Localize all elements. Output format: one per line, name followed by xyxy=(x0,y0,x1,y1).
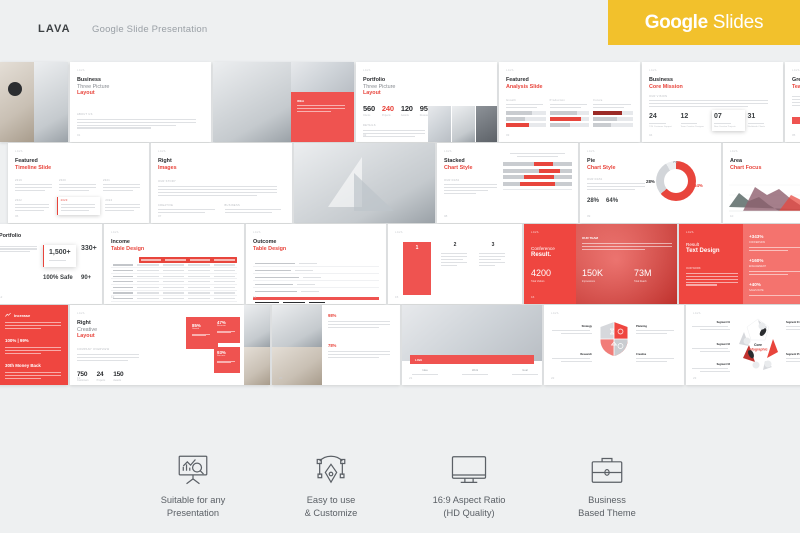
stat-value: 100% Safe xyxy=(43,275,73,281)
brand-subtitle: Google Slide Presentation xyxy=(92,24,207,35)
result-value: +40% xyxy=(749,282,800,287)
table-row xyxy=(253,281,379,288)
slide-tag: LAVA xyxy=(444,150,500,153)
slide-cover-photo-left[interactable] xyxy=(0,62,68,142)
info-label: Segment 01 xyxy=(692,321,730,324)
info-item: Strategy xyxy=(552,325,592,336)
feature-item: Idea xyxy=(412,369,438,375)
slide-tag: LAVA xyxy=(587,150,649,153)
stat-value: 28% xyxy=(587,198,599,204)
stat-caption: New Creative Projects xyxy=(714,126,743,128)
feature-easy-to-use: Easy to use & Customize xyxy=(279,449,383,519)
slide-title: Featured Timeline Slide xyxy=(15,158,142,171)
item-value: 98% xyxy=(328,313,394,318)
plan-label: 3 xyxy=(479,242,507,248)
slide-number: 04 xyxy=(649,133,652,137)
item-label: Increase xyxy=(14,313,30,318)
metric-card: 93% Success xyxy=(214,347,240,373)
slide-tag: LAVA xyxy=(649,69,776,72)
slide-title-line1: Featured xyxy=(506,77,633,84)
trend-up-icon xyxy=(5,312,11,318)
table-total-row xyxy=(253,300,379,304)
badge-word-slides: Slides xyxy=(713,12,764,34)
stat-value: 1,500+ xyxy=(49,249,71,256)
stat-item: 150 Awards xyxy=(113,371,123,383)
slide-title-line2: Chart Style xyxy=(587,165,649,172)
slide-number: 03 xyxy=(506,133,509,137)
slide-title: Income Table Design xyxy=(111,239,237,252)
table-row xyxy=(111,302,237,304)
stat-item: 73M Total Reach xyxy=(634,268,652,283)
slide-title: Great Teamwork xyxy=(792,77,800,90)
slide-title-line2: Chart Style xyxy=(444,165,500,172)
feature-label: Idea xyxy=(412,369,438,372)
metric-caption: Revenue xyxy=(217,325,240,327)
slide-title-line1: Featured xyxy=(15,158,142,165)
slide-shield-infographic[interactable]: LAVA Strate xyxy=(544,305,684,385)
feature-line2: & Customize xyxy=(279,507,383,519)
slide-tag: LAVA xyxy=(395,231,515,234)
result-value: +160% xyxy=(749,258,800,263)
feature-line1: Business xyxy=(555,494,659,506)
slide-portfolio-three-picture-layout[interactable]: LAVA Portfolio Three Picture Layout 560 … xyxy=(356,62,497,142)
slide-number: 07 xyxy=(158,214,161,218)
badge-word-google: Google xyxy=(645,12,708,34)
table-header-cell xyxy=(141,259,162,260)
feature-item: Goal xyxy=(512,369,538,375)
slide-number: 09 xyxy=(587,214,590,218)
svg-text:Core: Core xyxy=(754,343,762,347)
slide-title-line2: Core Mission xyxy=(649,84,776,91)
stat-caption: Team Creative Designer xyxy=(681,126,710,128)
stat-item: 31 Worldwide Clients xyxy=(748,113,777,128)
slide-title-line1: Right xyxy=(158,158,285,165)
info-item: Planning xyxy=(636,325,676,336)
slide-title-line2: Analysis Slide xyxy=(506,84,633,91)
info-item: Segment 02 xyxy=(692,343,730,354)
slide-featured-analysis[interactable]: LAVA Featured Analysis Slide Growth xyxy=(499,62,640,142)
slide-number: 16 xyxy=(531,295,534,299)
monitor-icon xyxy=(417,449,521,491)
slide-tag: LAVA xyxy=(111,231,237,234)
slide-row-1: LAVA Business Three Picture Layout ABOUT… xyxy=(0,62,800,142)
slide-title: Portfolio Three Picture Layout xyxy=(363,77,490,97)
stat-value: 150 xyxy=(113,371,123,378)
stat-item: 4200 Total Visitors xyxy=(531,268,551,283)
slide-number: 15 xyxy=(395,295,398,299)
stat-value: 330+ xyxy=(81,245,97,252)
pricing-plan-card[interactable]: 1 xyxy=(403,242,431,295)
feature-line1: Suitable for any xyxy=(141,494,245,506)
slide-number: 13 xyxy=(111,295,114,299)
slide-team-photo[interactable]: LAVA Idea Work Goal 21 xyxy=(402,305,542,385)
stat-item: 240 Projects xyxy=(382,104,394,118)
slide-business-core-mission[interactable]: LAVA Business Core Mission OUR VISION 24 xyxy=(642,62,783,142)
slide-area-chart-focus[interactable]: LAVA Area Chart Focus xyxy=(723,143,800,223)
stat-caption: Awards xyxy=(113,379,123,382)
briefcase-icon xyxy=(555,449,659,491)
slide-title: Area Chart Focus xyxy=(730,158,800,171)
table-row xyxy=(253,260,379,267)
svg-text:Infographic: Infographic xyxy=(748,348,767,352)
stat-value: 07 xyxy=(714,113,743,120)
slide-tag: LAVA xyxy=(77,69,204,72)
info-label: Research xyxy=(552,353,592,356)
table-row xyxy=(253,274,379,281)
slide-number: 02 xyxy=(363,133,366,137)
slide-tag: LAVA xyxy=(686,231,738,234)
data-table xyxy=(253,260,379,304)
slide-tag: LAVA xyxy=(506,69,633,72)
plan-label: 1 xyxy=(416,245,419,251)
slide-number: 08 xyxy=(444,214,447,218)
stat-value: 73M xyxy=(634,268,652,278)
metric-caption: Growth xyxy=(192,328,215,330)
slide-title-line1: Pie xyxy=(587,158,649,165)
info-item: Research xyxy=(552,353,592,364)
table-row xyxy=(253,267,379,274)
slide-number: 10 xyxy=(730,214,733,218)
slide-tag: LAVA xyxy=(253,231,379,234)
slide-title-line1: Portfolio xyxy=(0,233,95,240)
slide-number: 21 xyxy=(409,376,412,380)
slide-title-line1: Income xyxy=(111,239,237,246)
slide-title: Business Three Picture Layout xyxy=(77,77,204,97)
banner-label: LAVA xyxy=(415,358,422,362)
slide-row-4: Increase 100% | 99% 30th Money Back LAVA… xyxy=(0,305,800,385)
area-chart xyxy=(729,179,800,213)
feature-line1: 16:9 Aspect Ratio xyxy=(417,494,521,506)
slide-title: Stacked Chart Style xyxy=(444,158,500,171)
slide-title: Outcome Table Design xyxy=(253,239,379,252)
stat-value: 31 xyxy=(748,113,777,120)
stat-item: 90+ Creative Ideas xyxy=(81,275,91,283)
slide-title-line2: Images xyxy=(158,165,285,172)
slide-keyboard-photo[interactable]: IDEA xyxy=(213,62,354,142)
stat-item-highlighted: 07 New Creative Projects xyxy=(712,110,745,131)
feature-line2: Presentation xyxy=(141,507,245,519)
info-label: Segment 03 xyxy=(692,363,730,366)
stat-value: 560 xyxy=(363,104,375,113)
slide-tag: LAVA xyxy=(531,231,573,234)
slide-title: Result Text Design xyxy=(686,242,738,255)
stat-value: 150K xyxy=(582,268,603,278)
feature-line2: Based Theme xyxy=(555,507,659,519)
feature-aspect-ratio: 16:9 Aspect Ratio (HD Quality) xyxy=(417,449,521,519)
slide-tag: LAVA xyxy=(551,312,677,315)
slide-title-line1: Great xyxy=(792,77,800,84)
stat-value: 64% xyxy=(606,198,618,204)
slide-right-creative-layout[interactable]: LAVA Right Creative Layout COMPANY OVERV… xyxy=(70,305,270,385)
slide-title-line3: Layout xyxy=(77,333,143,340)
slide-row-3: Portfolio 1,500+ Business Clients 330+ P… xyxy=(0,224,800,304)
slide-row-2: LAVA Featured Timeline Slide 2019 2020 2… xyxy=(0,143,800,223)
donut-chart: 64% 28% 7% xyxy=(656,161,696,201)
slide-conference-result[interactable]: LAVA Conference Result. OUR TEAM 4200 To… xyxy=(524,224,677,304)
info-label: Segment 05 xyxy=(786,353,800,356)
info-item: Segment 03 xyxy=(692,363,730,374)
slide-number: 05 xyxy=(792,133,795,137)
feature-list: Suitable for any Presentation Easy to u xyxy=(0,449,800,519)
slide-pricing-plan[interactable]: LAVA 1 2 3 xyxy=(388,224,522,304)
slide-title: Conference Result. xyxy=(531,246,573,259)
table-header-cell xyxy=(214,259,235,260)
feature-item: Work xyxy=(462,369,488,375)
presentation-preview-page: LAVA Google Slide Presentation Google Sl… xyxy=(0,0,800,533)
slide-title-line1: Outcome xyxy=(253,239,379,246)
decor-circle-icon xyxy=(8,82,22,96)
stat-value: 12 xyxy=(681,113,710,120)
slide-great-teamwork[interactable]: LAVA Great Teamwork 05 xyxy=(785,62,800,142)
slide-result-text-design[interactable]: LAVA Result Text Design OUR WORK +343% C… xyxy=(679,224,800,304)
slide-number: 01 xyxy=(77,133,80,137)
stat-item: 24 Projects xyxy=(97,371,106,383)
stat-value: 120 xyxy=(401,104,413,113)
slide-title: Right Images xyxy=(158,158,285,171)
presentation-chart-icon xyxy=(141,449,245,491)
stat-value: 240 xyxy=(382,104,394,113)
stat-caption: Worldwide Clients xyxy=(748,126,777,128)
stat-item: 560 Clients xyxy=(363,104,375,118)
donut-label-primary: 64% xyxy=(694,183,703,188)
column-label: Production xyxy=(550,99,590,102)
table-header-row xyxy=(139,257,237,263)
slide-title-line2: Three Picture xyxy=(77,84,204,91)
stat-value: 90+ xyxy=(81,275,91,281)
stat-item: 24 7/24 Customer Support xyxy=(649,113,678,128)
data-table xyxy=(111,257,237,304)
circular-infographic: Core Infographic xyxy=(734,315,782,375)
slide-title-line2: Table Design xyxy=(253,246,379,253)
slide-tag: LAVA xyxy=(15,150,142,153)
info-label: Planning xyxy=(636,325,676,328)
feature-line1: Easy to use xyxy=(279,494,383,506)
feature-label: Easy to use & Customize xyxy=(279,494,383,519)
feature-label: Work xyxy=(462,369,488,372)
slide-title-line2: Table Design xyxy=(111,246,237,253)
slide-stacked-chart-style[interactable]: LAVA Stacked Chart Style OUR DATA xyxy=(437,143,578,223)
slide-number: 19 xyxy=(77,376,80,380)
slide-title: Portfolio xyxy=(0,233,95,240)
page-header: LAVA Google Slide Presentation Google Sl… xyxy=(0,0,800,58)
slide-title-line1: Stacked xyxy=(444,158,500,165)
column-label: Future xyxy=(593,99,633,102)
stat-caption: Projects xyxy=(382,114,394,117)
info-item: Segment 04 xyxy=(786,321,800,332)
donut-label-tertiary: 7% xyxy=(673,160,677,164)
slide-title-line1: Right xyxy=(77,320,143,327)
metric-caption: Success xyxy=(217,355,240,357)
slide-title-line2: Three Picture xyxy=(363,84,490,91)
slide-right-images[interactable]: LAVA Right Images OUR STORY CREATIVE BUS… xyxy=(151,143,292,223)
slide-architecture-photo[interactable] xyxy=(294,143,435,223)
table-header-cell xyxy=(165,259,186,260)
slide-tag: LAVA xyxy=(77,312,143,315)
slide-title-line2: Result. xyxy=(531,252,573,259)
result-value: +343% xyxy=(749,234,800,239)
stat-caption: 7/24 Customer Support xyxy=(649,126,678,128)
slide-title-line2: Text Design xyxy=(686,248,738,255)
slide-title-line3: Layout xyxy=(77,90,204,97)
brand-name: LAVA xyxy=(38,23,71,35)
slide-title: Business Core Mission xyxy=(649,77,776,90)
slide-title-line3: Layout xyxy=(363,90,490,97)
feature-label: Business Based Theme xyxy=(555,494,659,519)
slide-tag: LAVA xyxy=(158,150,285,153)
donut-label-secondary: 28% xyxy=(646,179,655,184)
slide-tag: LAVA xyxy=(730,150,800,153)
slide-income-table-design[interactable]: LAVA Income Table Design xyxy=(104,224,244,304)
slide-title-line1: Area xyxy=(730,158,800,165)
slide-title-line2: Chart Focus xyxy=(730,165,800,172)
slide-pie-chart-style[interactable]: LAVA Pie Chart Style OUR DATA 28% Revenu… xyxy=(580,143,721,223)
google-slides-badge: Google Slides xyxy=(608,0,800,45)
pricing-plan-card[interactable]: 2 xyxy=(441,242,469,267)
stat-caption: Projects xyxy=(97,379,106,382)
pricing-plan-card[interactable]: 3 xyxy=(479,242,507,267)
slide-number: 06 xyxy=(15,214,18,218)
slide-title: Featured Analysis Slide xyxy=(506,77,633,90)
stat-value: 24 xyxy=(649,113,678,120)
stat-value: 4200 xyxy=(531,268,551,278)
item-value: 78% xyxy=(328,343,394,348)
stat-item: 28% Revenue xyxy=(587,198,599,204)
info-label: Segment 02 xyxy=(692,343,730,346)
info-item: Segment 01 xyxy=(692,321,730,332)
feature-label: 16:9 Aspect Ratio (HD Quality) xyxy=(417,494,521,519)
item-label: 100% | 99% xyxy=(5,338,61,343)
slide-title: Pie Chart Style xyxy=(587,158,649,171)
slide-number: 12 xyxy=(0,295,2,299)
pen-tool-icon xyxy=(279,449,383,491)
info-label: Segment 04 xyxy=(786,321,800,324)
stat-item: 12 Team Creative Designer xyxy=(681,113,710,128)
slide-grid: LAVA Business Three Picture Layout ABOUT… xyxy=(0,62,800,386)
stat-caption: Awards xyxy=(401,114,413,117)
column-label: Growth xyxy=(506,99,546,102)
feature-suitable-for-any-presentation: Suitable for any Presentation xyxy=(141,449,245,519)
slide-number: 23 xyxy=(693,376,696,380)
slide-title-line1: Business xyxy=(649,77,776,84)
feature-label: Goal xyxy=(512,369,538,372)
stat-caption: Total Reach xyxy=(634,280,652,283)
stat-item: 100% Safe Secure Data xyxy=(43,275,73,283)
slide-business-picture-layout[interactable]: LAVA Business Three Picture Layout ABOUT… xyxy=(70,62,211,142)
slide-title-line1: Business xyxy=(77,77,204,84)
info-item: Segment 05 xyxy=(786,353,800,364)
stat-caption: Clients xyxy=(363,114,375,117)
table-row xyxy=(253,288,379,294)
table-header-cell xyxy=(190,259,211,260)
info-label: Creative xyxy=(636,353,676,356)
plan-label: 2 xyxy=(441,242,469,248)
slide-featured-timeline[interactable]: LAVA Featured Timeline Slide 2019 2020 2… xyxy=(8,143,149,223)
slide-title-line2: Creative xyxy=(77,327,143,334)
stat-item: 64% Growth xyxy=(606,198,618,204)
slide-title-line1: Portfolio xyxy=(363,77,490,84)
slide-outcome-table-design[interactable]: LAVA Outcome Table Design xyxy=(246,224,386,304)
slide-increase-highlight[interactable]: Increase 100% | 99% 30th Money Back xyxy=(0,305,68,385)
slide-portfolio-stats[interactable]: Portfolio 1,500+ Business Clients 330+ P… xyxy=(0,224,102,304)
slide-tag: LAVA xyxy=(363,69,490,72)
slide-number: 20 xyxy=(279,376,282,380)
stat-value: 24 xyxy=(97,371,106,378)
stat-item: 150K Impressions xyxy=(582,268,603,283)
stat-caption: Impressions xyxy=(582,280,603,283)
info-item: Creative xyxy=(636,353,676,364)
stat-item: 330+ Projects Done xyxy=(81,245,97,254)
slide-core-infographic[interactable]: LAVA Core xyxy=(686,305,800,385)
info-label: Strategy xyxy=(552,325,592,328)
feature-business-theme: Business Based Theme xyxy=(555,449,659,519)
slide-title-line2: Timeline Slide xyxy=(15,165,142,172)
slide-core-startup-focus[interactable]: 98% 78% 20 xyxy=(272,305,400,385)
slide-number: 14 xyxy=(253,295,256,299)
stat-caption: Total Visitors xyxy=(531,280,551,283)
shield-infographic xyxy=(599,321,629,357)
slide-title: Right Creative Layout xyxy=(77,320,143,340)
slide-title-line2: Teamwork xyxy=(792,84,800,91)
metric-card: 47% Revenue xyxy=(214,317,240,343)
feature-label: Suitable for any Presentation xyxy=(141,494,245,519)
stat-item: 120 Awards xyxy=(401,104,413,118)
item-label: 30th Money Back xyxy=(5,363,61,368)
stat-item-highlighted: 1,500+ Business Clients xyxy=(43,245,76,267)
feature-line2: (HD Quality) xyxy=(417,507,521,519)
slide-number: 22 xyxy=(551,376,554,380)
slide-tag: LAVA xyxy=(792,69,800,72)
